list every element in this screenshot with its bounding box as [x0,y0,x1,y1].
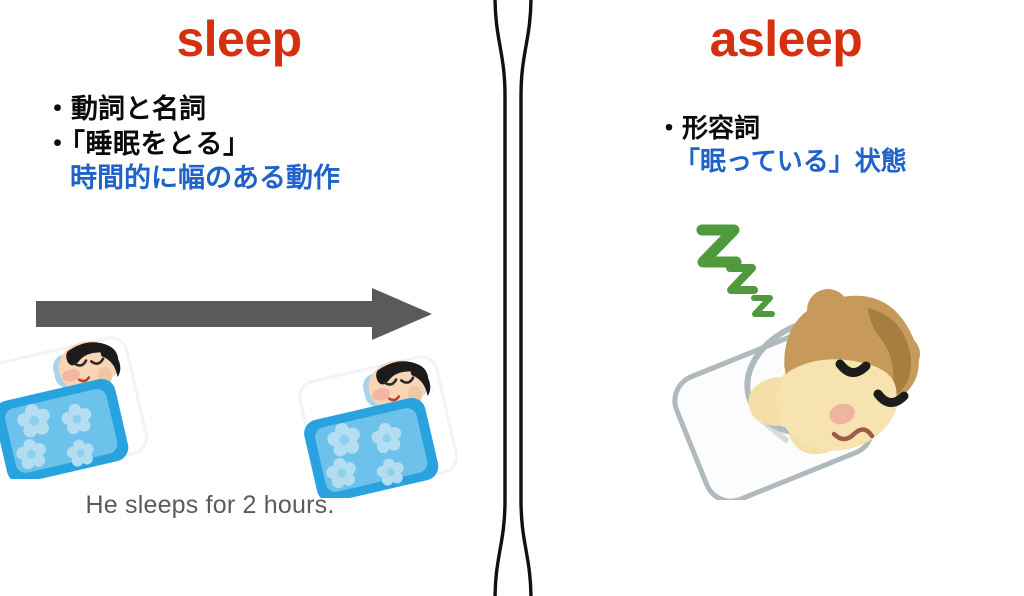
bullet-list-sleep: ・動詞と名詞 ・「睡眠をとる」 時間的に幅のある動作 [44,92,340,196]
sleeping-bear-futon-icon [672,268,938,500]
bullet-item: ・「睡眠をとる」 [44,127,340,162]
page-title-sleep: sleep [0,14,478,64]
caption-sleep: He sleeps for 2 hours. [0,489,420,521]
bullet-item-accent: 「眠っている」状態 [656,145,907,178]
bullet-item: ・動詞と名詞 [44,92,340,127]
bullet-list-asleep: ・形容詞 「眠っている」状態 [656,112,907,179]
page-title-asleep: asleep [548,14,1024,64]
sleeping-person-futon-icon [298,352,474,498]
slide-canvas: sleep ・動詞と名詞 ・「睡眠をとる」 時間的に幅のある動作 [0,0,1024,596]
bullet-item-accent: 時間的に幅のある動作 [44,161,340,196]
double-vertical-curve-divider [478,0,548,596]
panel-sleep: sleep ・動詞と名詞 ・「睡眠をとる」 時間的に幅のある動作 [0,0,478,596]
sleeping-person-futon-icon [0,333,164,479]
bullet-item: ・形容詞 [656,112,907,145]
